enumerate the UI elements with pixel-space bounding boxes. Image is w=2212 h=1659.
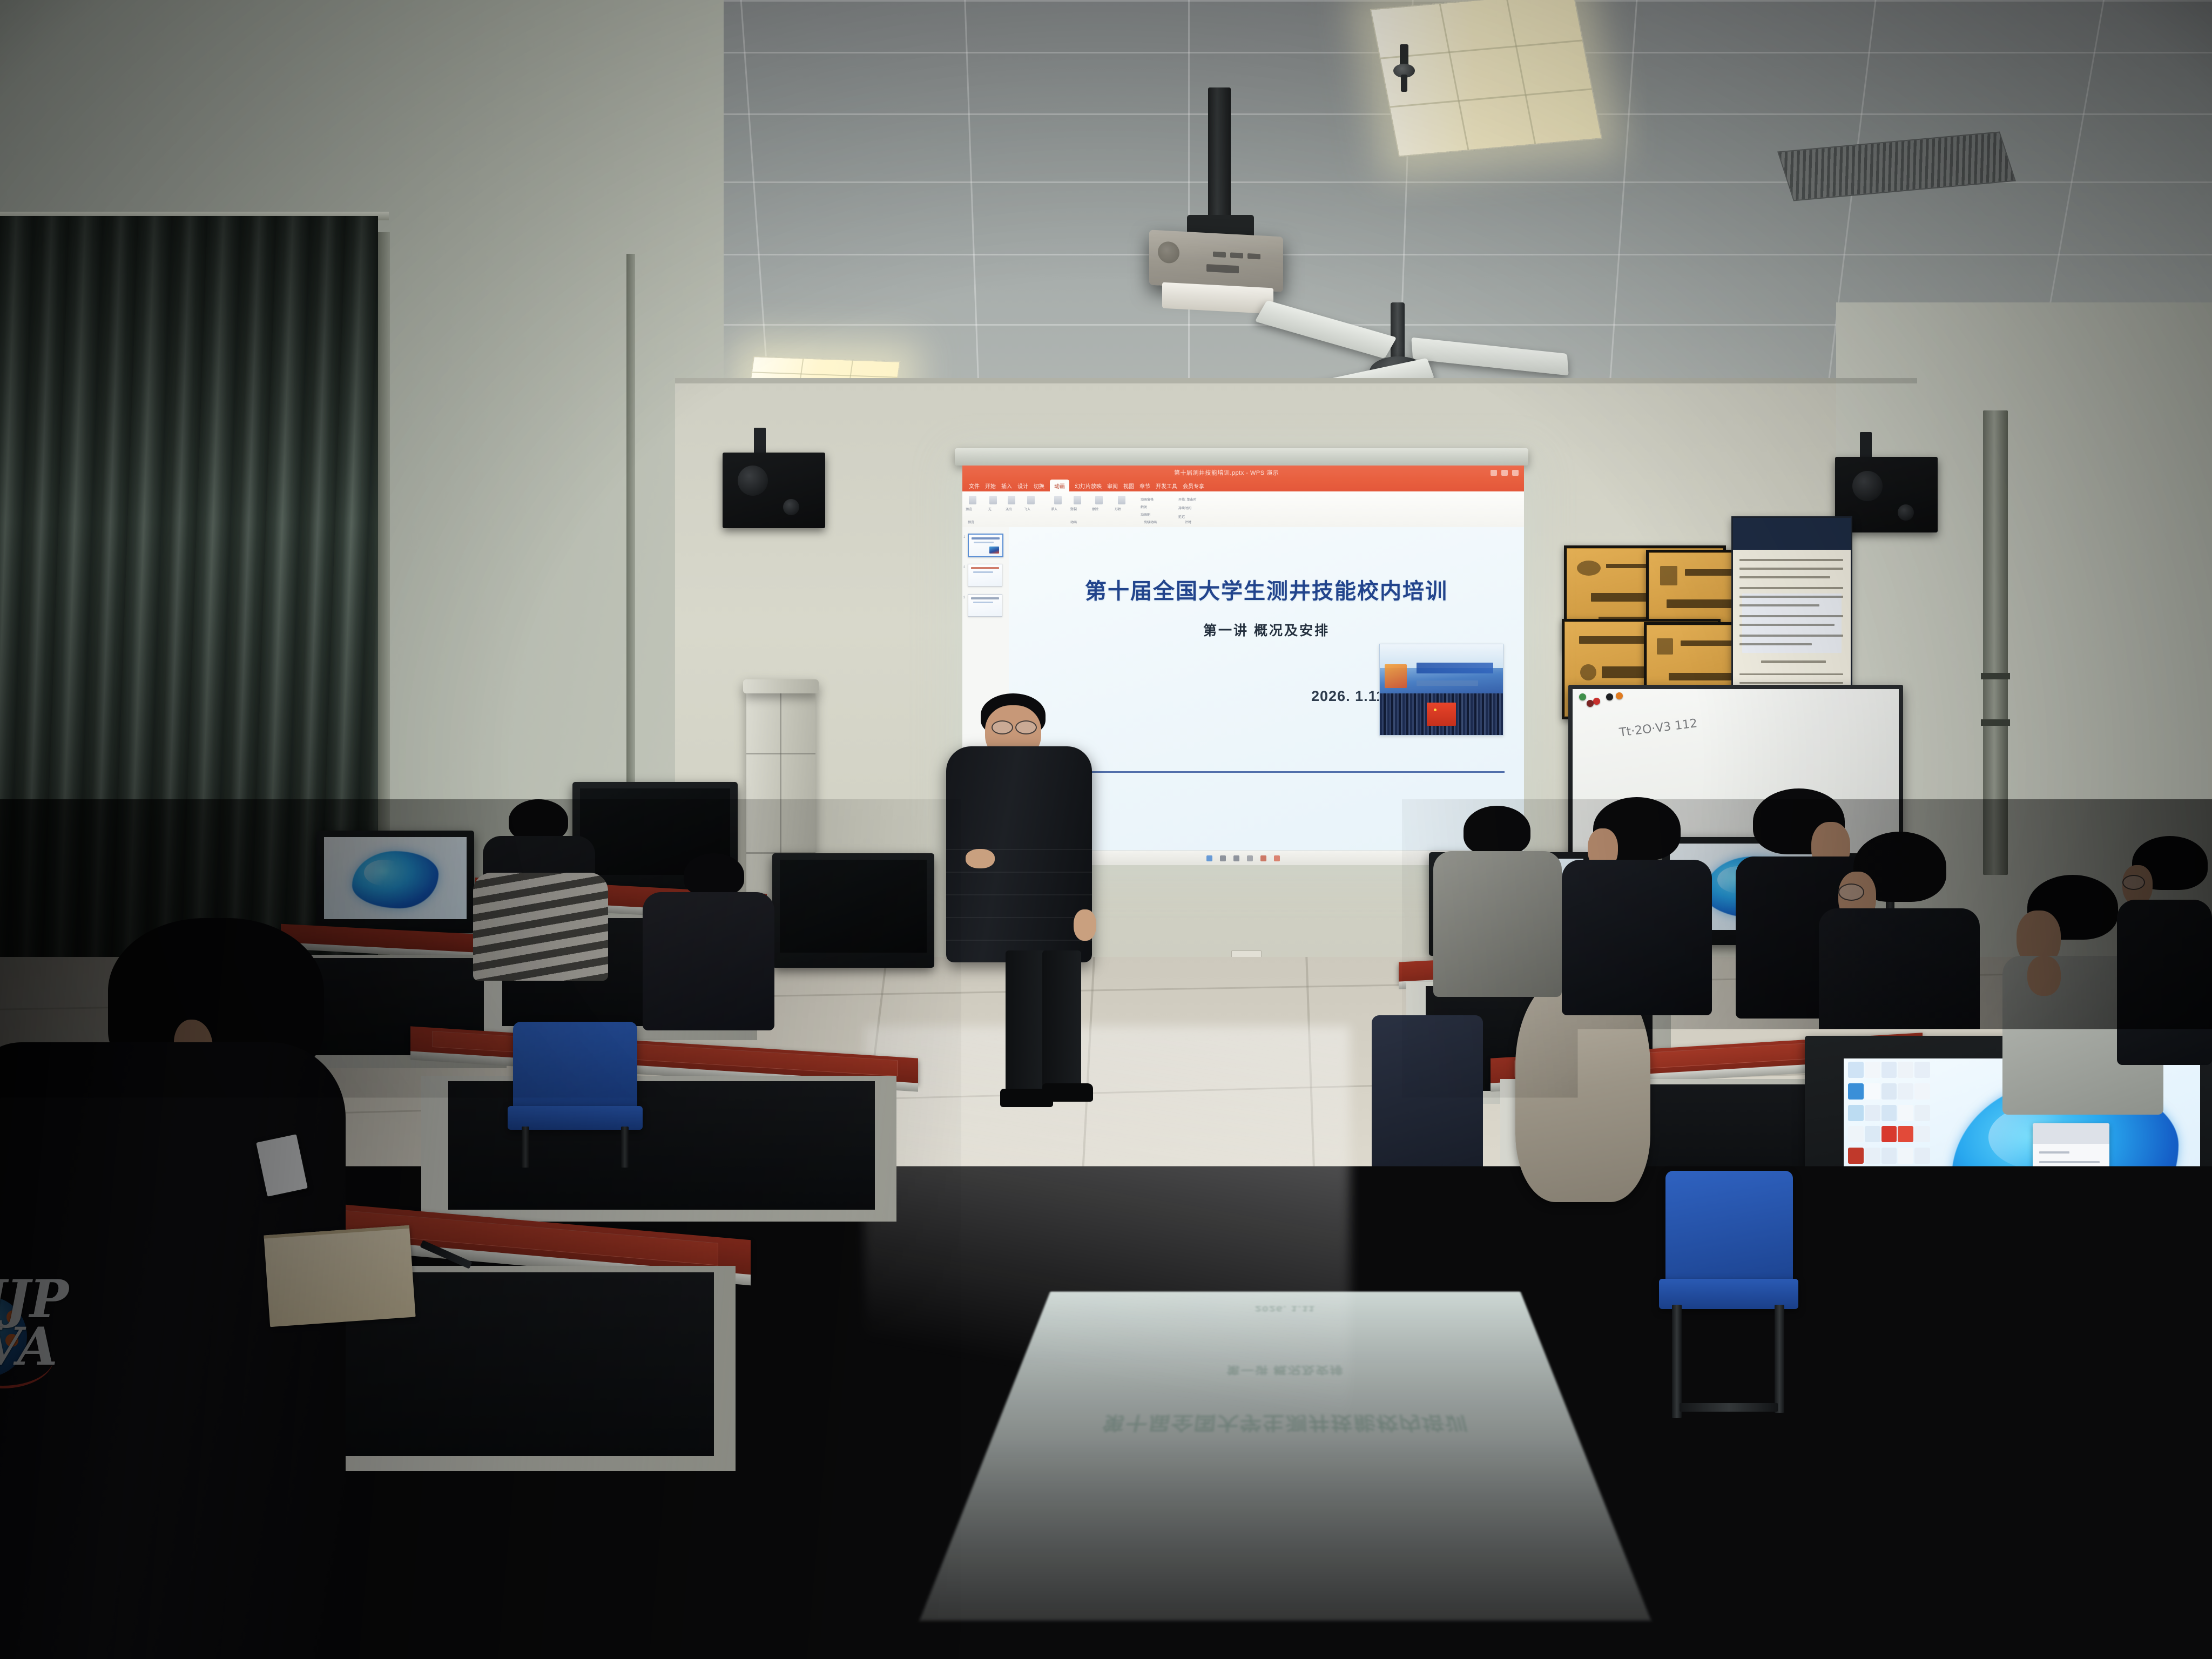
tab-file[interactable]: 文件 [969,482,980,490]
student-hand [2027,956,2061,996]
animation-float-icon[interactable] [1054,496,1062,504]
ppt-ribbon-tabs: 文件 开始 插入 设计 切换 动画 幻灯片放映 审阅 视图 章节 开发工具 会员… [962,480,1524,491]
tab-sections[interactable]: 章节 [1139,482,1150,490]
competition-logo-icon [1385,664,1407,688]
air-vent [1777,131,2016,201]
whiteboard-handwriting: Tt·2O·V3 112 [1618,717,1698,740]
hoodie-script-logo: JJPVA [0,1276,68,1371]
glasses-icon [2122,875,2145,890]
wall-speaker-left [723,453,825,528]
ribbon-label-wipe: 擦除 [1092,507,1098,511]
ppt-ribbon: 预览 无 淡出 飞入 浮入 劈裂 擦除 形状 动画窗格 触发 动画刷 开始: 单… [962,491,1524,528]
student-right-glasses [1562,797,1713,1013]
dialog-ok-button[interactable] [2082,1182,2103,1190]
tab-transitions[interactable]: 切换 [1034,482,1044,490]
slide-photo-banner [1379,644,1503,736]
ribbon-label-flyin: 飞入 [1024,507,1030,511]
ribbon-label-none: 无 [988,507,992,511]
projector-lens-plate [1162,282,1273,314]
projection-screen-case [955,448,1528,466]
ribbon-label-fade: 淡出 [1006,507,1012,511]
whiteboard-magnet[interactable] [1616,692,1623,699]
presenter-shoe [1042,1083,1093,1102]
animation-fade-icon[interactable] [1008,496,1015,504]
animation-none-icon[interactable] [989,496,997,504]
animation-flyin-icon[interactable] [1027,496,1035,504]
ribbon-label-trigger[interactable]: 触发 [1141,504,1147,509]
glasses-icon [992,720,1013,734]
tab-home[interactable]: 开始 [985,482,996,490]
close-button[interactable] [1512,470,1519,476]
presenter [934,691,1107,1123]
ribbon-group-advanced: 高级动画 [1144,520,1157,524]
ribbon-label-animation-pane[interactable]: 动画窗格 [1141,497,1154,502]
whiteboard-magnet[interactable] [1587,700,1594,707]
ribbon-group-timing: 计时 [1185,520,1191,524]
monitor-left-front[interactable] [772,853,934,968]
screen-left-front[interactable] [780,860,927,953]
student-left-dark [637,853,778,1031]
animation-shape-icon[interactable] [1118,496,1125,504]
desk-left-front [410,1042,918,1226]
ceiling-fan-blade [1255,300,1397,359]
tab-review[interactable]: 审阅 [1107,482,1118,490]
glasses-icon [1838,884,1864,901]
preview-icon[interactable] [969,496,976,504]
storage-cabinet-top [743,679,819,693]
desktop-dialog[interactable] [2033,1123,2109,1202]
student-left-stripe [473,825,608,982]
student-right-edge [2117,836,2212,1063]
tab-member[interactable]: 会员专享 [1183,482,1204,490]
tab-slideshow[interactable]: 幻灯片放映 [1075,482,1102,490]
student-right-grey [1430,806,1565,1000]
minimize-button[interactable] [1491,470,1497,476]
slide-thumbnail[interactable] [968,564,1002,586]
drain-pipe [1983,410,2008,875]
thumbnail-number: 2 [963,566,965,569]
tab-view[interactable]: 视图 [1123,482,1134,490]
ribbon-label-preview: 预览 [966,507,972,511]
whiteboard-magnet[interactable] [1593,698,1600,705]
ribbon-label-start[interactable]: 开始: 单击时 [1178,497,1196,502]
presenter-leg [1006,950,1046,1095]
tab-developer[interactable]: 开发工具 [1156,482,1177,490]
ribbon-label-delay[interactable]: 延迟 [1178,514,1185,519]
zoom-icon[interactable] [1274,855,1280,861]
maximize-button[interactable] [1501,470,1508,476]
sorter-view-icon[interactable] [1220,855,1226,861]
desktop-icon-grid[interactable] [1848,1062,1930,1254]
chair-right-front[interactable] [1653,1171,1809,1419]
fit-icon[interactable] [1260,855,1266,861]
slide-view-icon[interactable] [1206,855,1212,861]
ceiling-fan-blade [1411,338,1568,376]
classroom-scene: Tt·2O·V3 112 第十届测井技能培训.pptx - WPS 演示 [0,0,2212,1659]
tab-insert[interactable]: 插入 [1001,482,1012,490]
ribbon-label-split: 劈裂 [1070,507,1077,511]
slide-title: 第十届全国大学生测井技能校内培训 [1009,574,1524,605]
presenter-leg [1042,950,1081,1092]
slideshow-icon[interactable] [1247,855,1253,861]
whiteboard-magnet[interactable] [1579,693,1586,700]
thumbnail-number: 1 [963,536,965,539]
slide-thumbnail[interactable] [968,594,1002,617]
animation-split-icon[interactable] [1074,496,1081,504]
projector-mount-rod [1208,87,1231,222]
slide-thumbnail[interactable] [968,534,1003,557]
ribbon-label-duration[interactable]: 持续时间 [1178,505,1191,510]
backpack[interactable] [1372,1015,1483,1188]
chair-left-mid[interactable] [502,1022,648,1168]
presenter-hand [966,849,995,868]
reading-view-icon[interactable] [1233,855,1239,861]
presenter-hand [1074,909,1096,941]
screen-left-back[interactable] [324,837,467,919]
ribbon-label-animation-brush[interactable]: 动画刷 [1141,512,1150,517]
animation-wipe-icon[interactable] [1095,496,1103,504]
wall-panel-divider [626,254,635,864]
ppt-title-bar: 第十届测井技能培训.pptx - WPS 演示 [962,466,1524,480]
tab-design[interactable]: 设计 [1017,482,1028,490]
slide-subtitle: 第一讲 概况及安排 [1009,620,1524,639]
ribbon-label-float: 浮入 [1051,507,1057,511]
slide-date: 2026. 1.11 [1311,688,1385,705]
ribbon-label-shape: 形状 [1115,507,1121,511]
student-right-front [1819,832,1981,1080]
ppt-window-title: 第十届测井技能培训.pptx - WPS 演示 [962,468,1491,477]
open-notebook[interactable] [264,1225,415,1327]
thumbnail-number: 3 [963,596,965,599]
flag-icon [1427,703,1456,726]
tab-animations[interactable]: 动画 [1050,480,1069,492]
ribbon-group-animation: 动画 [1070,520,1077,524]
ribbon-group-preview: 预览 [968,520,974,524]
whiteboard-magnet[interactable] [1606,693,1613,700]
glasses-icon [1015,720,1037,734]
